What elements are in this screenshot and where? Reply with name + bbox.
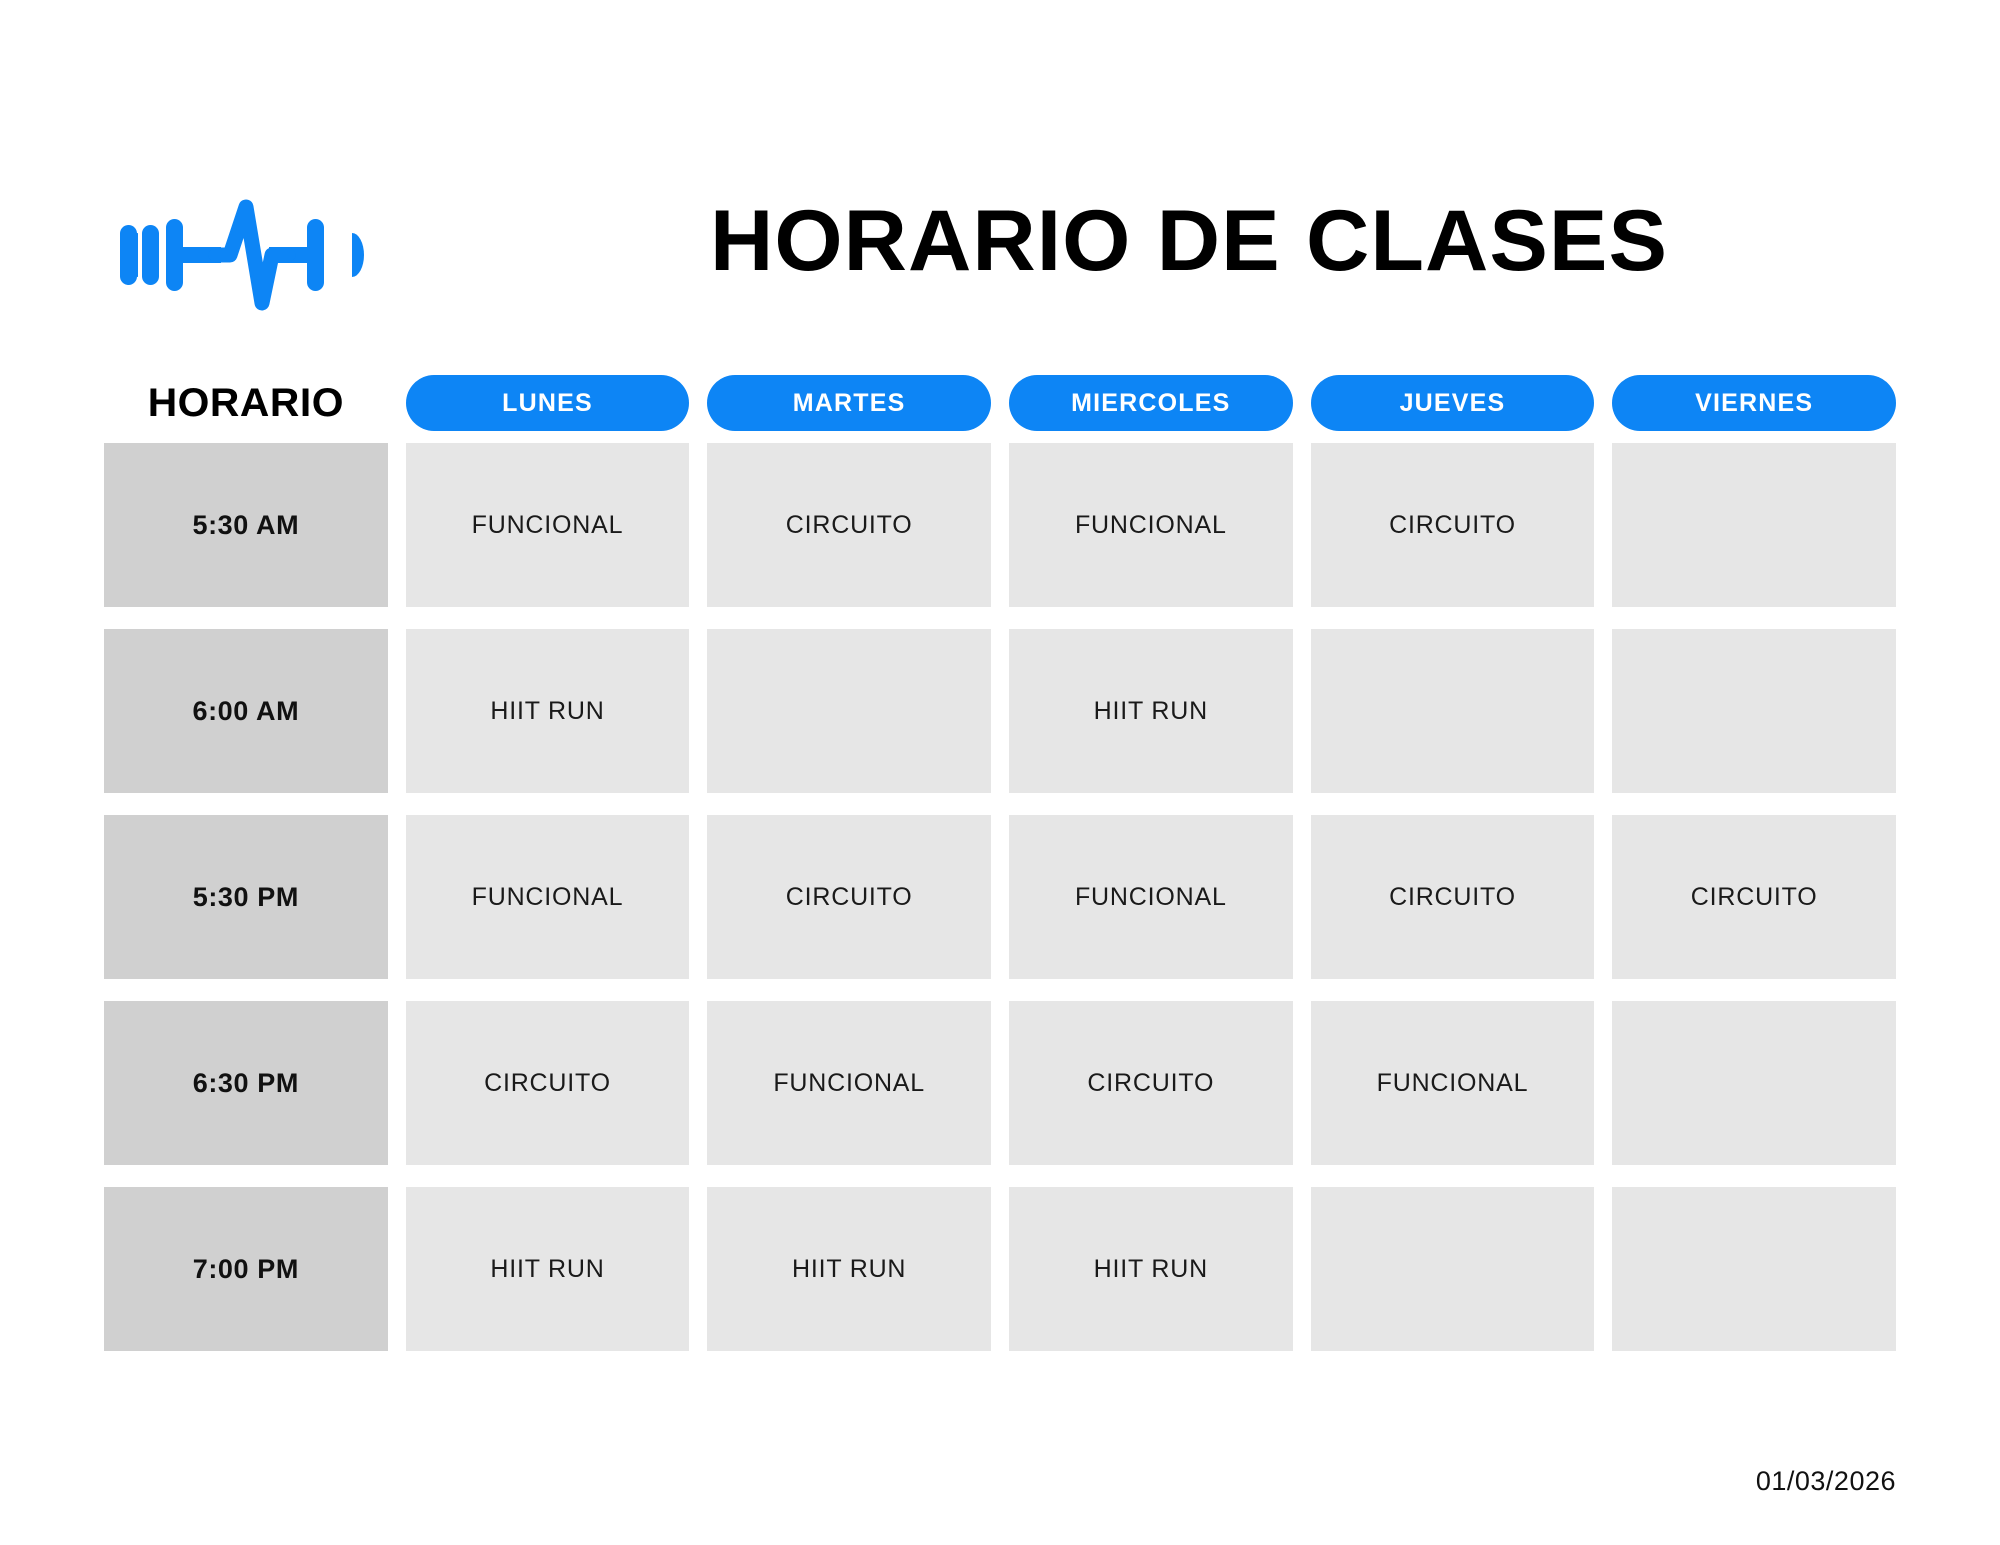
time-column-header: HORARIO bbox=[101, 375, 390, 431]
class-cell[interactable] bbox=[1612, 1187, 1896, 1351]
poster-header: HORARIO DE CLASES bbox=[104, 182, 1896, 322]
day-header-viernes[interactable]: VIERNES bbox=[1612, 375, 1896, 431]
time-cell: 7:00 PM bbox=[104, 1187, 388, 1351]
class-cell[interactable] bbox=[1612, 1001, 1896, 1165]
class-cell[interactable]: HIIT RUN bbox=[406, 1187, 690, 1351]
day-header-jueves[interactable]: JUEVES bbox=[1311, 375, 1595, 431]
class-cell[interactable]: FUNCIONAL bbox=[1311, 1001, 1595, 1165]
class-cell[interactable]: HIIT RUN bbox=[1009, 1187, 1293, 1351]
class-cell[interactable]: CIRCUITO bbox=[1311, 815, 1595, 979]
class-cell[interactable]: CIRCUITO bbox=[1009, 1001, 1293, 1165]
class-cell[interactable]: CIRCUITO bbox=[1311, 443, 1595, 607]
time-cell: 5:30 PM bbox=[104, 815, 388, 979]
class-cell[interactable] bbox=[1612, 443, 1896, 607]
schedule-poster: HORARIO DE CLASES HORARIO LUNES MARTES M… bbox=[0, 0, 2000, 1545]
class-cell[interactable] bbox=[1311, 1187, 1595, 1351]
class-cell[interactable]: CIRCUITO bbox=[707, 815, 991, 979]
class-cell[interactable]: HIIT RUN bbox=[707, 1187, 991, 1351]
class-cell[interactable] bbox=[1311, 629, 1595, 793]
column-header-row: HORARIO LUNES MARTES MIERCOLES JUEVES VI… bbox=[104, 375, 1896, 431]
day-header-martes[interactable]: MARTES bbox=[707, 375, 991, 431]
class-cell[interactable] bbox=[707, 629, 991, 793]
time-cell: 6:30 PM bbox=[104, 1001, 388, 1165]
class-cell[interactable]: CIRCUITO bbox=[406, 1001, 690, 1165]
time-cell: 6:00 AM bbox=[104, 629, 388, 793]
class-cell[interactable]: CIRCUITO bbox=[1612, 815, 1896, 979]
class-cell[interactable] bbox=[1612, 629, 1896, 793]
class-cell[interactable]: FUNCIONAL bbox=[1009, 815, 1293, 979]
class-cell[interactable]: HIIT RUN bbox=[1009, 629, 1293, 793]
class-cell[interactable]: CIRCUITO bbox=[707, 443, 991, 607]
class-cell[interactable]: FUNCIONAL bbox=[1009, 443, 1293, 607]
day-header-miercoles[interactable]: MIERCOLES bbox=[1009, 375, 1293, 431]
page-title: HORARIO DE CLASES bbox=[511, 186, 1868, 296]
dumbbell-pulse-icon bbox=[120, 190, 370, 320]
class-cell[interactable]: FUNCIONAL bbox=[406, 443, 690, 607]
time-cell: 5:30 AM bbox=[104, 443, 388, 607]
schedule-grid: 5:30 AM FUNCIONAL CIRCUITO FUNCIONAL CIR… bbox=[104, 443, 1896, 1351]
day-header-lunes[interactable]: LUNES bbox=[406, 375, 690, 431]
document-date: 01/03/2026 bbox=[1756, 1466, 1896, 1497]
class-cell[interactable]: HIIT RUN bbox=[406, 629, 690, 793]
class-cell[interactable]: FUNCIONAL bbox=[406, 815, 690, 979]
class-cell[interactable]: FUNCIONAL bbox=[707, 1001, 991, 1165]
